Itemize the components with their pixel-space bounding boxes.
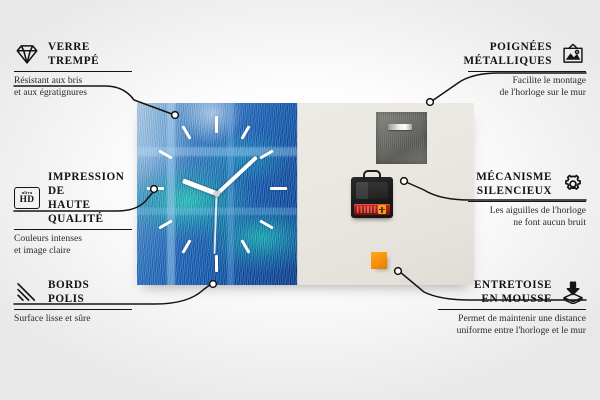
callout-description: Résistant aux bris et aux égratignures <box>14 75 132 99</box>
callout-description: Facilite le montage de l'horloge sur le … <box>468 75 586 99</box>
clock-hand-cap <box>214 191 220 197</box>
clock-back-panel <box>297 103 474 285</box>
hour-marker-6 <box>215 255 218 272</box>
callout-description: Les aiguilles de l'horloge ne font aucun… <box>468 205 586 229</box>
callout-rule <box>14 229 132 230</box>
bracket-keyhole-slot <box>388 124 412 130</box>
battery-plus-terminal <box>378 205 386 214</box>
callout-title: BORDS POLIS <box>48 278 89 306</box>
ultra-hd-icon: ultra HD <box>14 187 40 209</box>
arrow-down-onto-layers-icon <box>560 280 586 304</box>
callout-rule <box>14 309 132 310</box>
callout-description: Couleurs intenses et image claire <box>14 233 132 257</box>
ultra-hd-icon-bottom: HD <box>20 196 35 205</box>
callout-silent-mechanism: MÉCANISME SILENCIEUX Les aiguilles de l'… <box>468 170 586 229</box>
metal-hanging-bracket <box>376 112 427 164</box>
callout-foam-spacer: ENTRETOISE EN MOUSSE Permet de maintenir… <box>438 278 586 337</box>
callout-rule <box>468 201 586 202</box>
diamond-icon <box>14 42 40 66</box>
foam-spacer-pad <box>371 252 387 269</box>
callout-title: POIGNÉES MÉTALLIQUES <box>463 40 552 68</box>
callout-description: Surface lisse et sûre <box>14 313 132 325</box>
callout-description: Permet de maintenir une distance uniform… <box>438 313 586 337</box>
callout-title: VERRE TREMPÉ <box>48 40 99 68</box>
clock-front-face <box>137 103 297 285</box>
callout-title: ENTRETOISE EN MOUSSE <box>474 278 552 306</box>
battery <box>354 204 390 215</box>
clock-mechanism <box>351 177 393 218</box>
callout-title: MÉCANISME SILENCIEUX <box>476 170 552 198</box>
picture-frame-hanging-icon <box>560 42 586 66</box>
callout-polished-edges: BORDS POLIS Surface lisse et sûre <box>14 278 132 325</box>
gear-icon <box>560 172 586 196</box>
hour-marker-9 <box>147 187 164 190</box>
callout-rule <box>468 71 586 72</box>
product-image <box>137 103 474 285</box>
polished-edges-icon <box>14 280 40 304</box>
callout-title: IMPRESSION DE HAUTE QUALITÉ <box>48 170 132 226</box>
callout-hd-print: ultra HD IMPRESSION DE HAUTE QUALITÉ Cou… <box>14 170 132 257</box>
callout-tempered-glass: VERRE TREMPÉ Résistant aux bris et aux é… <box>14 40 132 99</box>
callout-rule <box>14 71 132 72</box>
infographic-canvas: VERRE TREMPÉ Résistant aux bris et aux é… <box>0 0 600 400</box>
mechanism-housing-detail <box>356 182 388 199</box>
hour-marker-3 <box>270 187 287 190</box>
callout-rule <box>438 309 586 310</box>
mechanism-hanger-loop <box>363 170 381 180</box>
hour-marker-12 <box>215 116 218 133</box>
callout-metal-handles: POIGNÉES MÉTALLIQUES Facilite le montage… <box>468 40 586 99</box>
